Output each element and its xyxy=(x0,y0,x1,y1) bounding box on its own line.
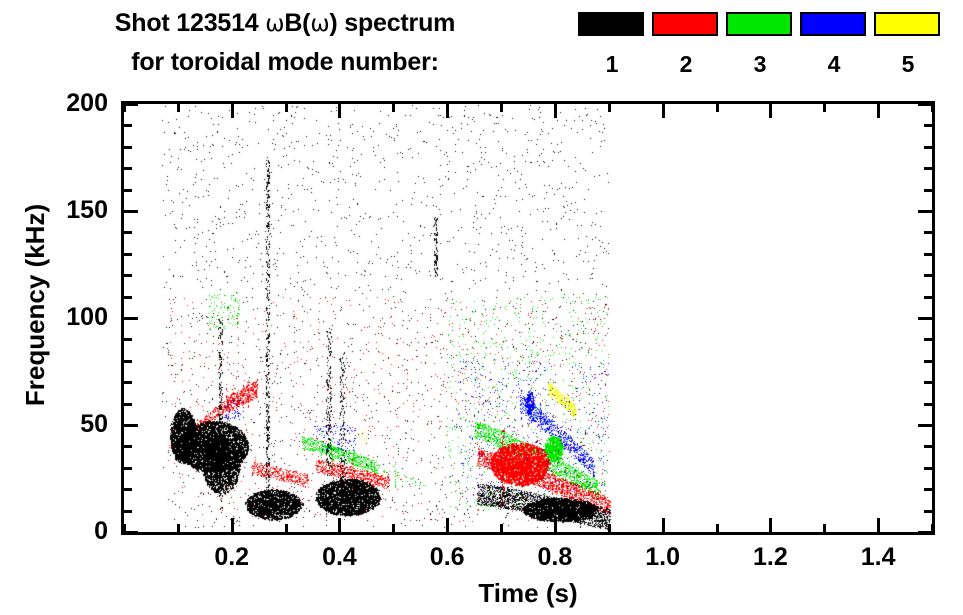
y-tick-right-180 xyxy=(924,146,932,149)
y-tick-right-10 xyxy=(924,510,932,513)
y-tick-label-200: 200 xyxy=(66,91,108,116)
y-tick-label-100: 100 xyxy=(66,305,108,330)
x-tick-label-1.0: 1.0 xyxy=(623,545,703,570)
title-spectrum-text: ) spectrum xyxy=(329,9,455,37)
y-tick-right-120 xyxy=(924,274,932,277)
y-tick-right-70 xyxy=(924,381,932,384)
x-tick-top-0.80 xyxy=(554,104,557,118)
x-axis-title: Time (s) xyxy=(121,578,935,608)
y-tick-minor-90 xyxy=(124,338,132,341)
legend-label-4: 4 xyxy=(800,52,868,76)
y-tick-minor-20 xyxy=(124,488,132,491)
x-tick-major-0.20 xyxy=(231,518,234,532)
legend-entry-5: 5 xyxy=(874,12,942,76)
x-tick-major-0.40 xyxy=(338,518,341,532)
legend-entry-4: 4 xyxy=(800,12,868,76)
y-tick-right-30 xyxy=(924,467,932,470)
y-tick-right-40 xyxy=(924,445,932,448)
x-tick-top-0.70 xyxy=(500,104,503,112)
x-tick-minor-0.70 xyxy=(500,524,503,532)
y-tick-right-150 xyxy=(918,210,932,213)
y-tick-right-190 xyxy=(924,124,932,127)
y-tick-minor-140 xyxy=(124,231,132,234)
legend-swatch-3 xyxy=(726,12,792,36)
legend-label-5: 5 xyxy=(874,52,942,76)
x-tick-label-0.6: 0.6 xyxy=(407,545,487,570)
x-axis-tick-labels: 0.20.40.60.81.01.21.4 xyxy=(0,545,963,579)
y-tick-right-20 xyxy=(924,488,932,491)
x-tick-minor-0.90 xyxy=(608,524,611,532)
x-tick-top-0.90 xyxy=(608,104,611,112)
omega-symbol-2: ω xyxy=(310,11,329,37)
x-tick-label-0.4: 0.4 xyxy=(299,545,379,570)
x-tick-top-1.50 xyxy=(931,104,934,112)
y-tick-right-200 xyxy=(918,103,932,106)
x-tick-top-1.40 xyxy=(877,104,880,118)
x-tick-label-1.4: 1.4 xyxy=(838,545,918,570)
y-tick-minor-160 xyxy=(124,189,132,192)
legend-swatch-4 xyxy=(800,12,866,36)
y-axis-tick-labels: 050100150200 xyxy=(0,0,108,615)
title-shot-text: Shot 123514 xyxy=(115,9,265,37)
x-tick-label-1.2: 1.2 xyxy=(730,545,810,570)
y-tick-minor-110 xyxy=(124,296,132,299)
y-tick-right-130 xyxy=(924,253,932,256)
y-tick-minor-70 xyxy=(124,381,132,384)
x-tick-minor-0.30 xyxy=(285,524,288,532)
y-tick-minor-170 xyxy=(124,167,132,170)
y-tick-major-100 xyxy=(124,317,138,320)
y-tick-right-80 xyxy=(924,360,932,363)
x-tick-minor-0.00 xyxy=(123,524,126,532)
legend-swatch-5 xyxy=(874,12,940,36)
x-tick-major-0.80 xyxy=(554,518,557,532)
x-tick-minor-1.30 xyxy=(823,524,826,532)
legend-swatch-2 xyxy=(652,12,718,36)
x-tick-major-1.20 xyxy=(769,518,772,532)
y-tick-right-160 xyxy=(924,189,932,192)
y-tick-minor-10 xyxy=(124,510,132,513)
y-tick-minor-190 xyxy=(124,124,132,127)
y-axis-title: Frequency (kHz) xyxy=(20,145,50,465)
y-tick-right-110 xyxy=(924,296,932,299)
y-tick-major-50 xyxy=(124,424,138,427)
spectrogram-figure: Shot 123514 ωB(ω) spectrum for toroidal … xyxy=(0,0,963,615)
y-tick-minor-180 xyxy=(124,146,132,149)
y-tick-right-50 xyxy=(918,424,932,427)
y-tick-minor-80 xyxy=(124,360,132,363)
x-tick-top-1.10 xyxy=(716,104,719,112)
legend-label-1: 1 xyxy=(578,52,646,76)
x-tick-label-0.8: 0.8 xyxy=(515,545,595,570)
y-tick-right-0 xyxy=(918,531,932,534)
x-tick-minor-0.10 xyxy=(177,524,180,532)
legend-label-3: 3 xyxy=(726,52,794,76)
y-tick-label-50: 50 xyxy=(80,412,108,437)
x-tick-top-0.50 xyxy=(392,104,395,112)
y-tick-label-0: 0 xyxy=(94,519,108,544)
x-tick-major-0.60 xyxy=(446,518,449,532)
legend-swatch-1 xyxy=(578,12,644,36)
x-tick-major-1.40 xyxy=(877,518,880,532)
x-tick-top-0.10 xyxy=(177,104,180,112)
y-tick-minor-120 xyxy=(124,274,132,277)
legend-entry-1: 1 xyxy=(578,12,646,76)
x-tick-top-0.60 xyxy=(446,104,449,118)
x-tick-top-1.20 xyxy=(769,104,772,118)
y-tick-major-200 xyxy=(124,103,138,106)
y-tick-major-150 xyxy=(124,210,138,213)
x-tick-minor-1.50 xyxy=(931,524,934,532)
y-tick-right-100 xyxy=(918,317,932,320)
title-b-text: B( xyxy=(284,9,310,37)
y-tick-right-140 xyxy=(924,231,932,234)
x-tick-top-0.40 xyxy=(338,104,341,118)
x-tick-top-1.30 xyxy=(823,104,826,112)
legend-entry-3: 3 xyxy=(726,12,794,76)
x-tick-top-0.20 xyxy=(231,104,234,118)
y-tick-right-170 xyxy=(924,167,932,170)
x-tick-major-1.00 xyxy=(662,518,665,532)
x-tick-top-0.00 xyxy=(123,104,126,112)
y-tick-minor-30 xyxy=(124,467,132,470)
y-tick-minor-60 xyxy=(124,403,132,406)
y-tick-right-60 xyxy=(924,403,932,406)
mode-number-legend: 1 2 3 4 5 xyxy=(578,12,958,90)
x-tick-top-0.30 xyxy=(285,104,288,112)
spectrogram-canvas xyxy=(124,104,932,532)
x-tick-minor-1.10 xyxy=(716,524,719,532)
y-tick-right-90 xyxy=(924,338,932,341)
x-tick-label-0.2: 0.2 xyxy=(192,545,272,570)
y-tick-minor-40 xyxy=(124,445,132,448)
y-tick-label-150: 150 xyxy=(66,198,108,223)
plot-frame xyxy=(121,101,935,535)
legend-entry-2: 2 xyxy=(652,12,720,76)
omega-symbol-1: ω xyxy=(265,11,284,37)
y-tick-minor-130 xyxy=(124,253,132,256)
y-tick-major-0 xyxy=(124,531,138,534)
x-tick-top-1.00 xyxy=(662,104,665,118)
legend-label-2: 2 xyxy=(652,52,720,76)
x-tick-minor-0.50 xyxy=(392,524,395,532)
